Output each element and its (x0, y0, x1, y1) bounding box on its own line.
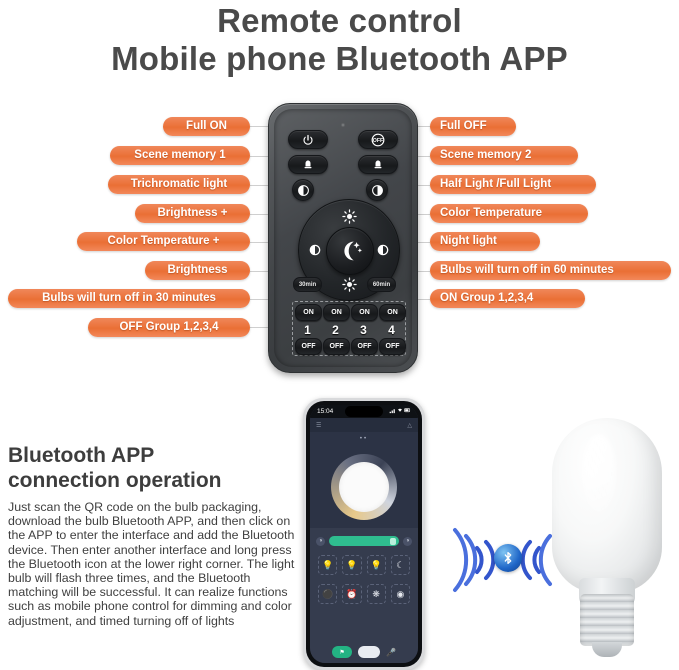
half-full-light-button[interactable] (366, 179, 388, 201)
slider-handle[interactable] (390, 538, 396, 545)
group-column-3: ON 3 OFF (351, 304, 376, 353)
bluetooth-icon (494, 544, 522, 572)
group-4-on-button[interactable]: ON (379, 304, 406, 321)
scene-bulb-2-button[interactable]: 💡 (342, 555, 361, 575)
trichromatic-light-button[interactable] (292, 179, 314, 201)
label-night-light[interactable]: Night light (430, 232, 540, 251)
app-home-indicator[interactable] (358, 646, 380, 658)
status-time: 15:04 (317, 408, 333, 415)
page-title-line2: Mobile phone Bluetooth APP (0, 40, 679, 78)
bulb-base-tip (592, 642, 622, 657)
phone-frame: 15:04 ☰ △ •• (306, 401, 422, 667)
phone-status-bar: 15:04 (310, 405, 418, 418)
svg-text:OFF: OFF (373, 137, 384, 143)
app-top-bar: ☰ △ (310, 418, 418, 432)
group-2-off-button[interactable]: OFF (323, 338, 350, 355)
section-body-text: Just scan the QR code on the bulb packag… (8, 500, 296, 628)
group-3-on-button[interactable]: ON (351, 304, 378, 321)
label-half-full-light[interactable]: Half Light /Full Light (430, 175, 596, 194)
app-brightness-dial[interactable] (331, 454, 397, 520)
scene-timer-button[interactable]: ⏰ (342, 584, 361, 604)
section-title-line2: connection operation (8, 468, 298, 493)
label-full-off[interactable]: Full OFF (430, 117, 516, 136)
group-column-4: ON 4 OFF (379, 304, 404, 353)
night-light-button[interactable] (326, 227, 374, 275)
remote-body: OFF (274, 109, 412, 367)
scene-bulb-off-button[interactable]: ⚫ (318, 584, 337, 604)
app-slider-row: ◑ ◑ (310, 528, 418, 546)
timer-60min-button[interactable]: 60min (367, 277, 396, 292)
app-tab-active[interactable]: ⚑ (332, 646, 352, 658)
label-brightness[interactable]: Brightness (145, 261, 250, 280)
label-scene-memory-2[interactable]: Scene memory 2 (430, 146, 578, 165)
group-2-on-button[interactable]: ON (323, 304, 350, 321)
label-timer-60-minutes[interactable]: Bulbs will turn off in 60 minutes (430, 261, 671, 280)
scene-moon-button[interactable]: ☾ (391, 555, 410, 575)
app-dial-inner (339, 462, 389, 512)
led-bulb-image (548, 418, 666, 664)
scene-bulb-3-button[interactable]: 💡 (367, 555, 386, 575)
phone-screen: 15:04 ☰ △ •• (310, 405, 418, 663)
group-column-2: ON 2 OFF (323, 304, 348, 353)
label-color-temperature-up[interactable]: Color Temperature + (77, 232, 250, 251)
label-trichromatic-light[interactable]: Trichromatic light (108, 175, 250, 194)
label-scene-memory-1[interactable]: Scene memory 1 (110, 146, 250, 165)
group-4-number: 4 (379, 321, 404, 338)
power-icon (302, 134, 314, 146)
label-brightness-up[interactable]: Brightness + (135, 204, 250, 223)
half-full-light-icon (371, 184, 384, 197)
status-indicators-icon (389, 407, 411, 416)
mic-icon[interactable]: 🎤 (386, 648, 396, 657)
ir-led-indicator (341, 123, 345, 127)
label-off-group[interactable]: OFF Group 1,2,3,4 (88, 318, 250, 337)
brightness-down-button[interactable] (339, 274, 359, 294)
color-temp-icon (376, 243, 390, 257)
label-timer-30-minutes[interactable]: Bulbs will turn off in 30 minutes (8, 289, 250, 308)
power-off-button[interactable]: OFF (358, 130, 398, 149)
brightness-low-icon: ◑ (316, 537, 325, 546)
scene-bulb-1-button[interactable]: 💡 (318, 555, 337, 575)
scene-memory-1-button[interactable] (288, 155, 328, 174)
app-bottom-bar: ⚑ 🎤 (310, 644, 418, 660)
group-1-off-button[interactable]: OFF (295, 338, 322, 355)
page-title: Remote control Mobile phone Bluetooth AP… (0, 0, 679, 78)
poster-root: Remote control Mobile phone Bluetooth AP… (0, 0, 679, 670)
phone-mockup: 15:04 ☰ △ •• (303, 398, 425, 670)
bell-icon[interactable]: △ (407, 422, 412, 429)
group-3-number: 3 (351, 321, 376, 338)
dynamic-island (345, 406, 383, 417)
label-on-group[interactable]: ON Group 1,2,3,4 (430, 289, 585, 308)
group-1-number: 1 (295, 321, 320, 338)
moon-stars-icon (335, 236, 365, 266)
group-buttons-panel: ON 1 OFF ON 2 OFF ON 3 OFF ON 4 OFF (292, 301, 406, 356)
power-on-button[interactable] (288, 130, 328, 149)
menu-icon[interactable]: ☰ (316, 422, 321, 429)
color-temperature-up-button[interactable] (305, 240, 325, 260)
bluetooth-pair-button[interactable]: ◉ (391, 584, 410, 604)
app-dial-title: •• (310, 432, 418, 442)
scene-memory-icon (302, 159, 314, 171)
label-color-temperature[interactable]: Color Temperature (430, 204, 588, 223)
sun-icon (342, 277, 357, 292)
bulb-highlight (582, 434, 616, 512)
section-title-line1: Bluetooth APP (8, 443, 298, 468)
app-control-panel: ◑ ◑ 💡 💡 💡 ☾ ⚫ ⏰ (310, 528, 418, 663)
brightness-high-icon: ◑ (403, 537, 412, 546)
group-column-1: ON 1 OFF (295, 304, 320, 353)
scene-memory-icon (372, 159, 384, 171)
scene-color-cycle-button[interactable]: ❋ (367, 584, 386, 604)
scene-memory-2-button[interactable] (358, 155, 398, 174)
label-full-on[interactable]: Full ON (163, 117, 250, 136)
color-temp-icon (308, 243, 322, 257)
app-dial-area: •• (310, 432, 418, 528)
app-scene-grid-row2: ⚫ ⏰ ❋ ◉ (310, 575, 418, 604)
app-scene-grid-row1: 💡 💡 💡 ☾ (310, 546, 418, 575)
group-4-off-button[interactable]: OFF (379, 338, 406, 355)
color-temp-icon (297, 184, 310, 197)
section-title: Bluetooth APP connection operation (8, 443, 298, 493)
group-3-off-button[interactable]: OFF (351, 338, 378, 355)
sun-icon (342, 209, 357, 224)
remote-control: OFF (268, 103, 418, 373)
timer-30min-button[interactable]: 30min (293, 277, 322, 292)
brightness-up-button[interactable] (339, 206, 359, 226)
color-temperature-down-button[interactable] (373, 240, 393, 260)
page-title-line1: Remote control (0, 2, 679, 40)
group-2-number: 2 (323, 321, 348, 338)
bulb-screw-base (580, 594, 634, 646)
group-1-on-button[interactable]: ON (295, 304, 322, 321)
brightness-slider[interactable] (329, 536, 399, 546)
off-circle-icon: OFF (371, 133, 385, 147)
